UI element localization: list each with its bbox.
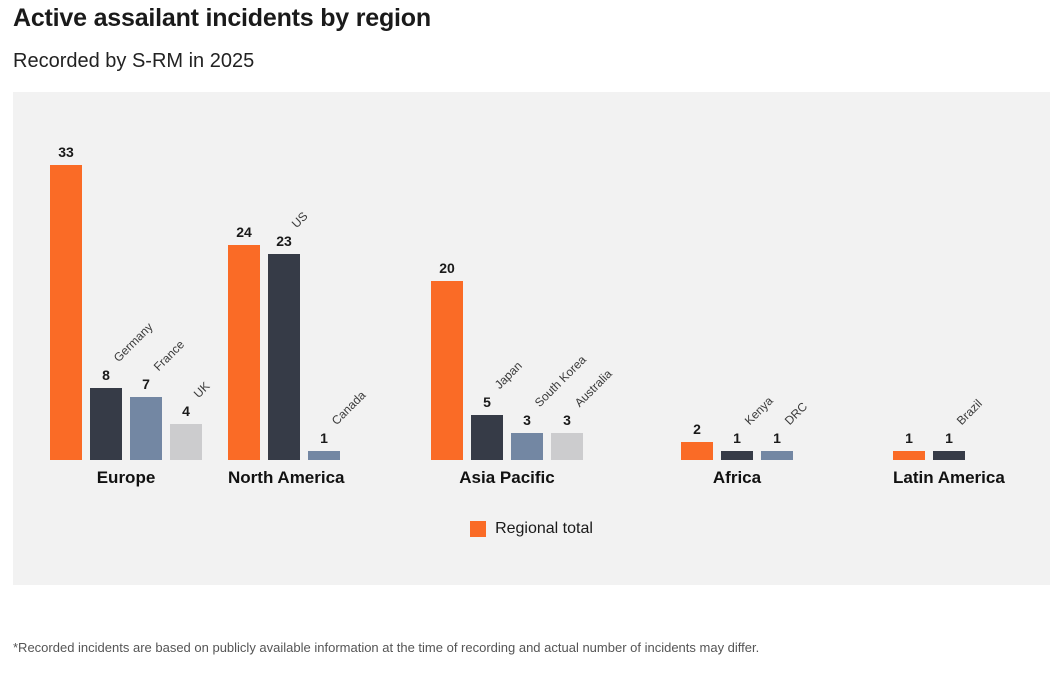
- bars-container: 11Brazil: [893, 92, 965, 460]
- bar-category-label: Australia: [573, 368, 614, 409]
- bar-item[interactable]: 7France: [130, 92, 162, 460]
- bar-item[interactable]: 23US: [268, 92, 300, 460]
- bar-value-label: 1: [761, 431, 793, 445]
- bar-item[interactable]: 3South Korea: [511, 92, 543, 460]
- bar-rect[interactable]: [681, 442, 713, 460]
- group-axis-label: Latin America: [893, 468, 965, 488]
- bar-item[interactable]: 3Australia: [551, 92, 583, 460]
- bar-category-label: US: [290, 210, 310, 230]
- page-title: Active assailant incidents by region: [13, 4, 431, 33]
- bar-value-label: 1: [721, 431, 753, 445]
- bar-value-label: 8: [90, 368, 122, 382]
- bar-item[interactable]: 24: [228, 92, 260, 460]
- bar-rect[interactable]: [130, 397, 162, 460]
- bar-category-label: Brazil: [955, 397, 985, 427]
- bar-value-label: 2: [681, 422, 713, 436]
- page-subtitle: Recorded by S-RM in 2025: [13, 50, 254, 73]
- bar-value-label: 5: [471, 395, 503, 409]
- legend-label-regional-total: Regional total: [495, 520, 593, 538]
- chart-legend: Regional total: [13, 520, 1050, 538]
- bar-value-label: 7: [130, 377, 162, 391]
- bar-item[interactable]: 2: [681, 92, 713, 460]
- bar-value-label: 1: [933, 431, 965, 445]
- bar-group-latin-america: 11BrazilLatin America: [893, 92, 965, 460]
- group-axis-label: Asia Pacific: [431, 468, 583, 488]
- bar-item[interactable]: 1Brazil: [933, 92, 965, 460]
- bars-container: 338Germany7France4UK: [50, 92, 202, 460]
- group-axis-label: Europe: [50, 468, 202, 488]
- bar-item[interactable]: 1: [893, 92, 925, 460]
- legend-swatch-regional-total: [470, 521, 486, 537]
- bar-value-label: 23: [268, 234, 300, 248]
- bar-rect[interactable]: [170, 424, 202, 460]
- bar-rect[interactable]: [511, 433, 543, 460]
- bar-rect[interactable]: [50, 165, 82, 460]
- bar-rect[interactable]: [721, 451, 753, 460]
- bar-item[interactable]: 20: [431, 92, 463, 460]
- bar-category-label: UK: [192, 380, 212, 400]
- bar-value-label: 4: [170, 404, 202, 418]
- chart-page: Active assailant incidents by region Rec…: [0, 0, 1062, 679]
- bar-value-label: 33: [50, 145, 82, 159]
- bar-group-europe: 338Germany7France4UKEurope: [50, 92, 202, 460]
- bar-item[interactable]: 1Kenya: [721, 92, 753, 460]
- bar-item[interactable]: 33: [50, 92, 82, 460]
- bar-value-label: 1: [893, 431, 925, 445]
- bar-rect[interactable]: [761, 451, 793, 460]
- bar-value-label: 3: [511, 413, 543, 427]
- bar-item[interactable]: 1Canada: [308, 92, 340, 460]
- bar-item[interactable]: 1DRC: [761, 92, 793, 460]
- bar-category-label: Canada: [330, 389, 368, 427]
- bar-group-north-america: 2423US1CanadaNorth America: [228, 92, 340, 460]
- bar-value-label: 20: [431, 261, 463, 275]
- bar-group-asia-pacific: 205Japan3South Korea3AustraliaAsia Pacif…: [431, 92, 583, 460]
- group-axis-label: Africa: [681, 468, 793, 488]
- bar-category-label: DRC: [783, 400, 810, 427]
- bar-rect[interactable]: [90, 388, 122, 460]
- footnote: *Recorded incidents are based on publicl…: [13, 640, 759, 655]
- bar-item[interactable]: 4UK: [170, 92, 202, 460]
- bar-rect[interactable]: [933, 451, 965, 460]
- bars-container: 2423US1Canada: [228, 92, 340, 460]
- bar-rect[interactable]: [893, 451, 925, 460]
- bar-rect[interactable]: [308, 451, 340, 460]
- bars-container: 205Japan3South Korea3Australia: [431, 92, 583, 460]
- bars-container: 21Kenya1DRC: [681, 92, 793, 460]
- bar-group-africa: 21Kenya1DRCAfrica: [681, 92, 793, 460]
- group-axis-label: North America: [228, 468, 340, 488]
- plot-area: 338Germany7France4UKEurope2423US1CanadaN…: [13, 92, 1050, 460]
- bar-item[interactable]: 5Japan: [471, 92, 503, 460]
- bar-rect[interactable]: [228, 245, 260, 460]
- bar-value-label: 24: [228, 225, 260, 239]
- bar-rect[interactable]: [431, 281, 463, 460]
- bar-rect[interactable]: [551, 433, 583, 460]
- bar-value-label: 3: [551, 413, 583, 427]
- bar-rect[interactable]: [471, 415, 503, 460]
- bar-value-label: 1: [308, 431, 340, 445]
- chart-panel: 338Germany7France4UKEurope2423US1CanadaN…: [13, 92, 1050, 585]
- bar-rect[interactable]: [268, 254, 300, 460]
- bar-item[interactable]: 8Germany: [90, 92, 122, 460]
